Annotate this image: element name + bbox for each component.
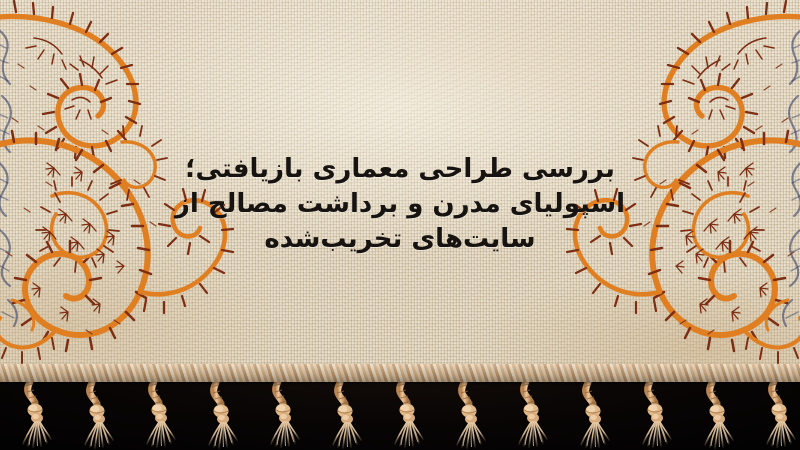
braided-selvedge	[0, 364, 800, 382]
title-line-3: سایت‌های تخریب‌شده	[0, 222, 800, 257]
title-line-1: بررسی طراحی معماری بازیافتی؛	[0, 152, 800, 187]
slide-title: بررسی طراحی معماری بازیافتی؛ اسپولیای مد…	[0, 152, 800, 257]
banner-slide: بررسی طراحی معماری بازیافتی؛ اسپولیای مد…	[0, 0, 800, 450]
title-line-2: اسپولیای مدرن و برداشت مصالح از	[0, 187, 800, 222]
knotted-tassel-fringe	[0, 376, 800, 450]
